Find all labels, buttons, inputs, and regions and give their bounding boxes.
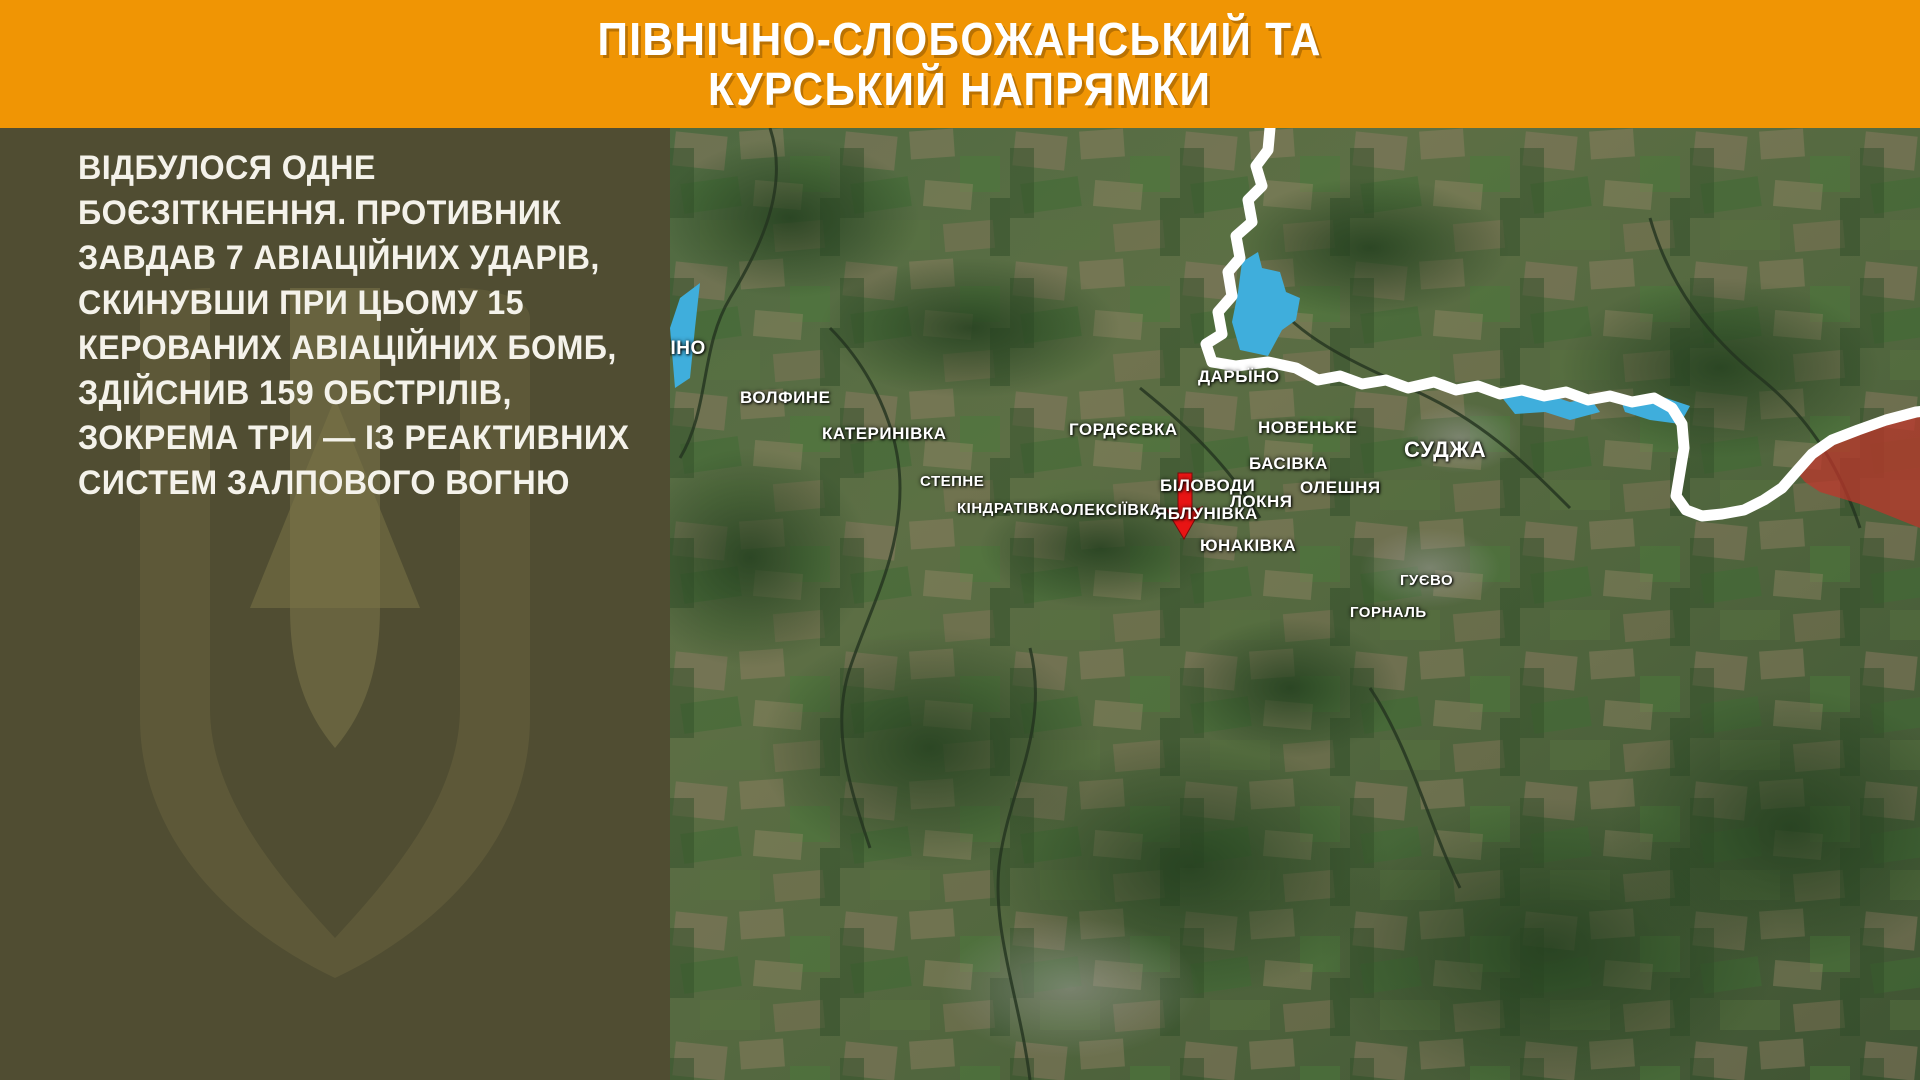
page-title-line2: КУРСЬКИЙ НАПРЯМКИ (598, 64, 1322, 114)
map-satellite-canvas (670, 128, 1920, 1080)
header-banner: ПІВНІЧНО-СЛОБОЖАНСЬКИЙ ТА КУРСЬКИЙ НАПРЯ… (0, 0, 1920, 128)
page-title: ПІВНІЧНО-СЛОБОЖАНСЬКИЙ ТА КУРСЬКИЙ НАПРЯ… (598, 14, 1322, 114)
infographic-root: ПІВНІЧНО-СЛОБОЖАНСЬКИЙ ТА КУРСЬКИЙ НАПРЯ… (0, 0, 1920, 1080)
summary-panel: ВІДБУЛОСЯ ОДНЕ БОЄЗІТКНЕННЯ. ПРОТИВНИК З… (0, 128, 670, 1080)
map-area[interactable]: ТЬОТКІНОВОЛФИНЕКАТЕРИНІВКАСТЕПНЕКІНДРАТІ… (670, 128, 1920, 1080)
page-title-line1: ПІВНІЧНО-СЛОБОЖАНСЬКИЙ ТА (598, 13, 1322, 65)
summary-text: ВІДБУЛОСЯ ОДНЕ БОЄЗІТКНЕННЯ. ПРОТИВНИК З… (78, 146, 648, 506)
